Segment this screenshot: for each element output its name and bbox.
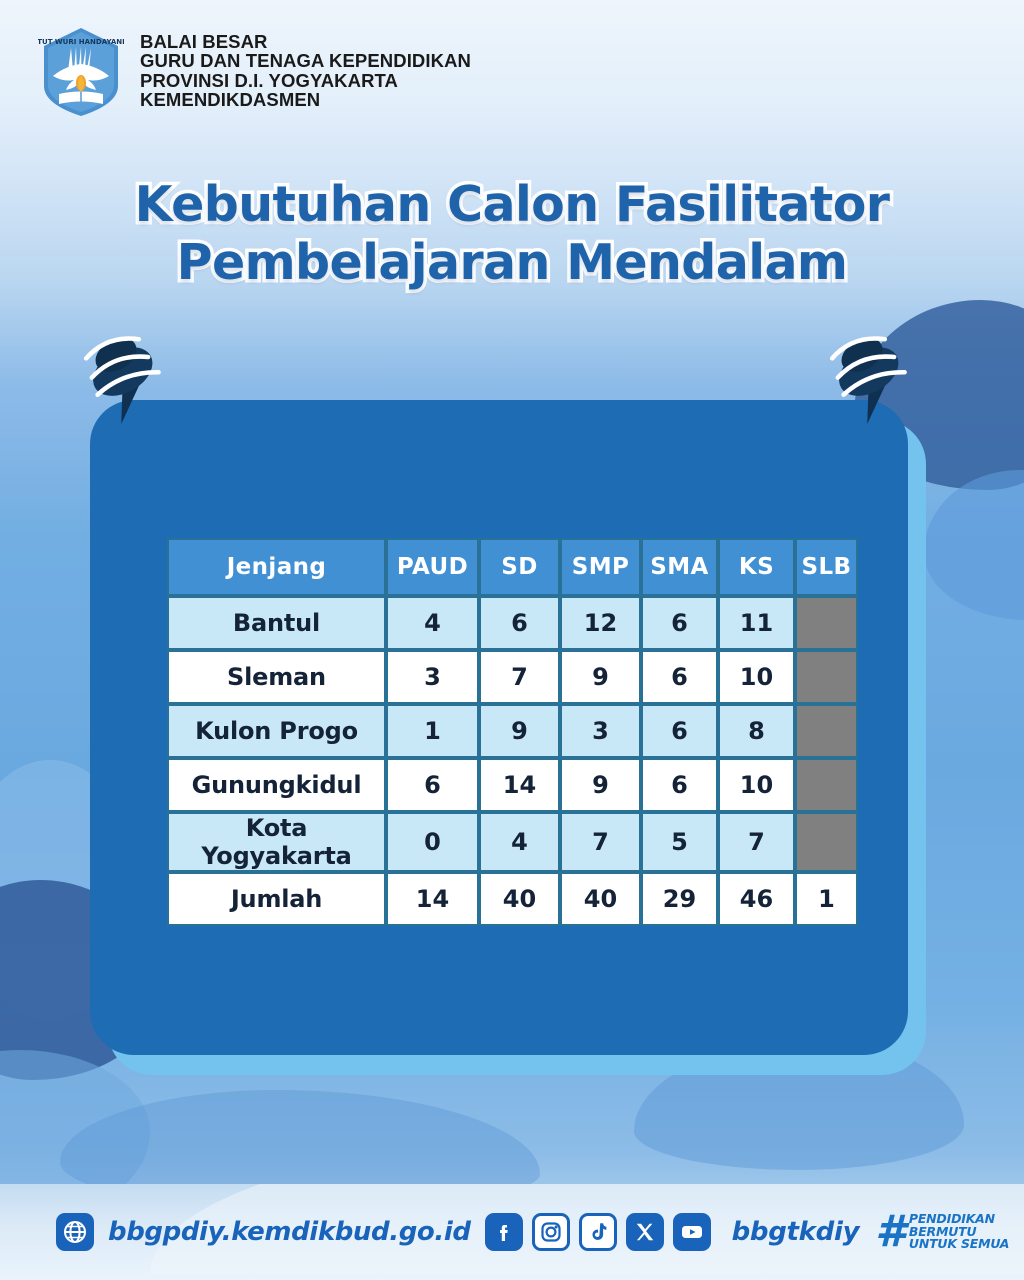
row-label: Sleman (167, 650, 386, 704)
cell-sma: 29 (641, 872, 718, 926)
org-line-1: BALAI BESAR (140, 32, 471, 51)
cell-slb-blocked (795, 596, 858, 650)
column-header-slb: SLB (795, 538, 858, 596)
cell-paud: 3 (386, 650, 479, 704)
cell-ks: 10 (718, 758, 795, 812)
globe-icon[interactable] (56, 1213, 94, 1251)
column-header-sma: SMA (641, 538, 718, 596)
cell-paud: 6 (386, 758, 479, 812)
poster-title: Kebutuhan Calon Fasilitator Pembelajaran… (0, 176, 1024, 292)
table-body: Bantul 4 6 12 6 11 Sleman 3 7 9 6 10 (167, 596, 858, 926)
cell-sma: 6 (641, 650, 718, 704)
footer-content-row: bbgpdiy.kemdikbud.go.id (0, 1184, 1024, 1280)
column-header-jenjang: Jenjang (167, 538, 386, 596)
cell-slb-blocked (795, 650, 858, 704)
cell-ks: 8 (718, 704, 795, 758)
table-row: Sleman 3 7 9 6 10 (167, 650, 858, 704)
cell-slb: 1 (795, 872, 858, 926)
cell-paud: 14 (386, 872, 479, 926)
cell-paud: 0 (386, 812, 479, 872)
table-row-total: Jumlah 14 40 40 29 46 1 (167, 872, 858, 926)
org-line-3: PROVINSI D.I. YOGYAKARTA (140, 71, 471, 90)
cell-sma: 6 (641, 704, 718, 758)
cell-smp: 7 (560, 812, 641, 872)
org-line-4: KEMENDIKDASMEN (140, 90, 471, 109)
cell-sd: 14 (479, 758, 560, 812)
cell-sd: 6 (479, 596, 560, 650)
column-header-sd: SD (479, 538, 560, 596)
cell-smp: 9 (560, 758, 641, 812)
cell-smp: 40 (560, 872, 641, 926)
cell-sma: 6 (641, 758, 718, 812)
cell-sd: 40 (479, 872, 560, 926)
cell-smp: 9 (560, 650, 641, 704)
cell-slb-blocked (795, 758, 858, 812)
svg-text:TUT WURI HANDAYANI: TUT WURI HANDAYANI (38, 38, 124, 46)
hash-icon: # (875, 1210, 906, 1254)
youtube-icon[interactable] (673, 1213, 711, 1251)
cell-ks: 10 (718, 650, 795, 704)
cell-paud: 4 (386, 596, 479, 650)
title-line-1: Kebutuhan Calon Fasilitator (0, 176, 1024, 234)
x-twitter-icon[interactable] (626, 1213, 664, 1251)
needs-table: Jenjang PAUD SD SMP SMA KS SLB Bantul 4 … (167, 538, 858, 926)
website-url[interactable]: bbgpdiy.kemdikbud.go.id (108, 1217, 471, 1247)
cell-smp: 3 (560, 704, 641, 758)
table-head: Jenjang PAUD SD SMP SMA KS SLB (167, 538, 858, 596)
title-line-2: Pembelajaran Mendalam (0, 234, 1024, 292)
org-line-2: GURU DAN TENAGA KEPENDIDIKAN (140, 51, 471, 70)
table-row: Kota Yogyakarta 0 4 7 5 7 (167, 812, 858, 872)
pushpin-left-icon (72, 322, 190, 467)
poster-header: TUT WURI HANDAYANI BALAI BESAR GURU DAN … (0, 0, 1024, 140)
decorative-blob-right (924, 470, 1024, 620)
organization-name: BALAI BESAR GURU DAN TENAGA KEPENDIDIKAN… (140, 26, 471, 110)
pushpin-right-icon (818, 322, 936, 467)
cell-sma: 6 (641, 596, 718, 650)
column-header-ks: KS (718, 538, 795, 596)
cell-ks: 46 (718, 872, 795, 926)
column-header-smp: SMP (560, 538, 641, 596)
campaign-lines: PENDIDIKAN BERMUTU UNTUK SEMUA (909, 1213, 1009, 1251)
cell-slb-blocked (795, 812, 858, 872)
cell-sd: 9 (479, 704, 560, 758)
poster-canvas: TUT WURI HANDAYANI BALAI BESAR GURU DAN … (0, 0, 1024, 1280)
row-label: Bantul (167, 596, 386, 650)
row-label: Kota Yogyakarta (167, 812, 386, 872)
row-label-total: Jumlah (167, 872, 386, 926)
row-label: Kulon Progo (167, 704, 386, 758)
facebook-icon[interactable] (485, 1213, 523, 1251)
cell-ks: 11 (718, 596, 795, 650)
table-row: Gunungkidul 6 14 9 6 10 (167, 758, 858, 812)
column-header-paud: PAUD (386, 538, 479, 596)
campaign-line-3: UNTUK SEMUA (909, 1238, 1009, 1251)
logo-svg: TUT WURI HANDAYANI (38, 26, 124, 118)
cell-paud: 1 (386, 704, 479, 758)
instagram-icon[interactable] (532, 1213, 570, 1251)
campaign-hashtag-lockup: # PENDIDIKAN BERMUTU UNTUK SEMUA (875, 1210, 1009, 1254)
cell-sma: 5 (641, 812, 718, 872)
social-handle[interactable]: bbgtkdiy (732, 1217, 860, 1247)
tiktok-icon[interactable] (579, 1213, 617, 1251)
row-label: Gunungkidul (167, 758, 386, 812)
table-header-row: Jenjang PAUD SD SMP SMA KS SLB (167, 538, 858, 596)
data-table-container: Jenjang PAUD SD SMP SMA KS SLB Bantul 4 … (167, 538, 858, 926)
tut-wuri-handayani-logo: TUT WURI HANDAYANI (38, 26, 124, 118)
table-row: Kulon Progo 1 9 3 6 8 (167, 704, 858, 758)
poster-footer: bbgpdiy.kemdikbud.go.id (0, 1184, 1024, 1280)
cell-sd: 4 (479, 812, 560, 872)
cell-sd: 7 (479, 650, 560, 704)
table-row: Bantul 4 6 12 6 11 (167, 596, 858, 650)
cell-ks: 7 (718, 812, 795, 872)
cell-smp: 12 (560, 596, 641, 650)
cell-slb-blocked (795, 704, 858, 758)
